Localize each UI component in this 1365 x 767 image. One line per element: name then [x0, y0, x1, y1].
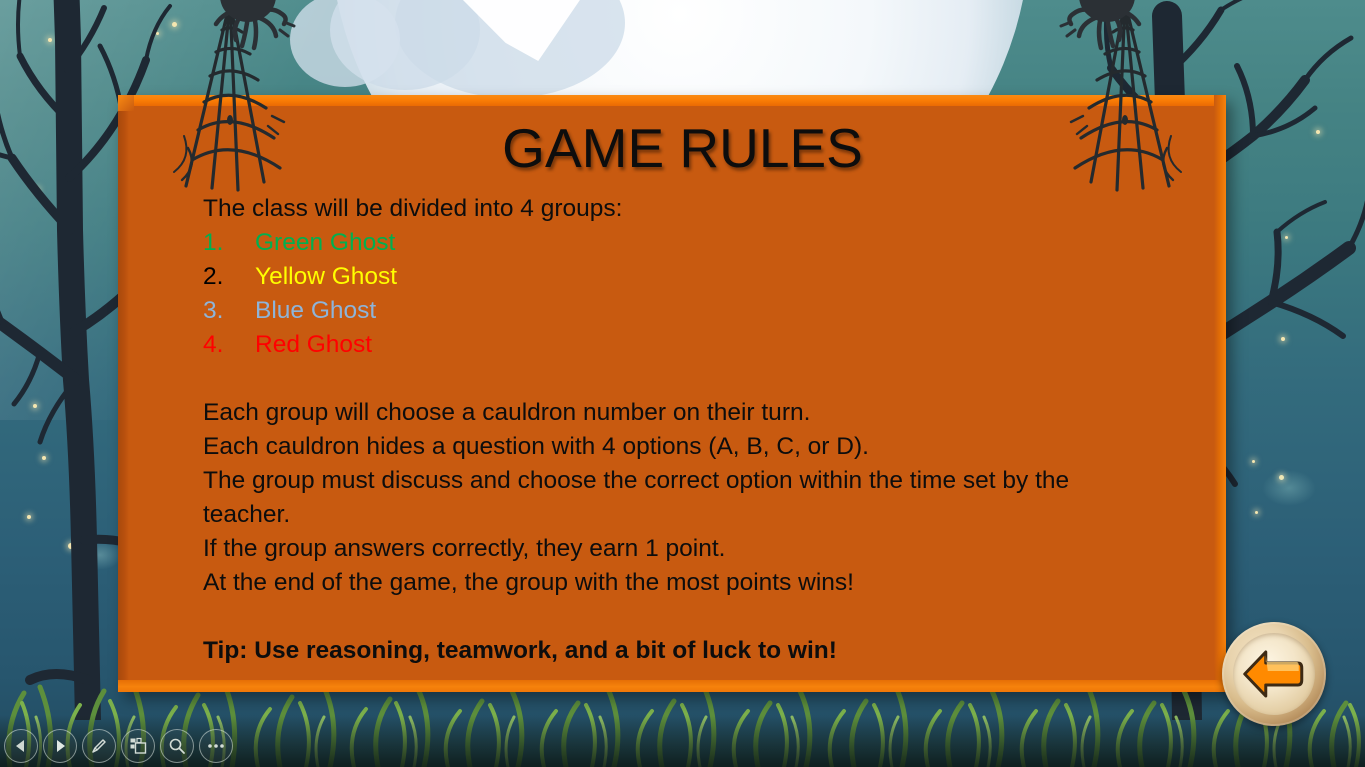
- rule-line: Each group will choose a cauldron number…: [203, 396, 1133, 430]
- list-item-number: 2.: [203, 260, 255, 294]
- triangle-left-icon[interactable]: [14, 739, 28, 753]
- text-spacer: [203, 362, 1133, 396]
- next-slide-button[interactable]: [43, 729, 77, 763]
- group-list: 1. Green Ghost 2. Yellow Ghost 3. Blue G…: [203, 226, 1133, 362]
- back-arrow-icon[interactable]: [1242, 649, 1304, 699]
- rule-line: The group must discuss and choose the co…: [203, 464, 1133, 532]
- page-title: GAME RULES: [0, 116, 1365, 180]
- rules-body: The class will be divided into 4 groups:…: [203, 192, 1133, 668]
- list-item-number: 4.: [203, 328, 255, 362]
- previous-slide-button[interactable]: [4, 729, 38, 763]
- list-item: 1. Green Ghost: [203, 226, 1133, 260]
- more-options-button[interactable]: [199, 729, 233, 763]
- list-item-label: Green Ghost: [255, 226, 395, 260]
- list-item: 3. Blue Ghost: [203, 294, 1133, 328]
- pen-icon[interactable]: [90, 737, 108, 755]
- list-item-number: 3.: [203, 294, 255, 328]
- triangle-right-icon[interactable]: [53, 739, 67, 753]
- list-item: 4. Red Ghost: [203, 328, 1133, 362]
- presenter-toolbar[interactable]: [4, 729, 233, 763]
- intro-line: The class will be divided into 4 groups:: [203, 192, 1133, 226]
- pen-tool-button[interactable]: [82, 729, 116, 763]
- magnifier-icon[interactable]: [168, 737, 186, 755]
- panel-right-bevel: [1214, 95, 1226, 692]
- rule-line: Each cauldron hides a question with 4 op…: [203, 430, 1133, 464]
- panel-bottom-bevel: [118, 680, 1226, 692]
- tip-line: Tip: Use reasoning, teamwork, and a bit …: [203, 634, 1133, 668]
- ellipsis-icon[interactable]: [207, 743, 225, 749]
- spider-icon: [196, 0, 306, 58]
- panel-left-bevel: [118, 95, 129, 692]
- list-item-label: Yellow Ghost: [255, 260, 397, 294]
- list-item-label: Red Ghost: [255, 328, 372, 362]
- presentation-slide: GAME RULES The class will be divided int…: [0, 0, 1365, 767]
- rule-line: At the end of the game, the group with t…: [203, 566, 1133, 600]
- rule-line: If the group answers correctly, they ear…: [203, 532, 1133, 566]
- slide-grid-icon[interactable]: [129, 737, 147, 755]
- spider-icon: [1049, 0, 1159, 58]
- panel-corner: [118, 95, 134, 111]
- zoom-button[interactable]: [160, 729, 194, 763]
- list-item-number: 1.: [203, 226, 255, 260]
- all-slides-button[interactable]: [121, 729, 155, 763]
- list-item: 2. Yellow Ghost: [203, 260, 1133, 294]
- list-item-label: Blue Ghost: [255, 294, 376, 328]
- back-button[interactable]: [1222, 622, 1326, 726]
